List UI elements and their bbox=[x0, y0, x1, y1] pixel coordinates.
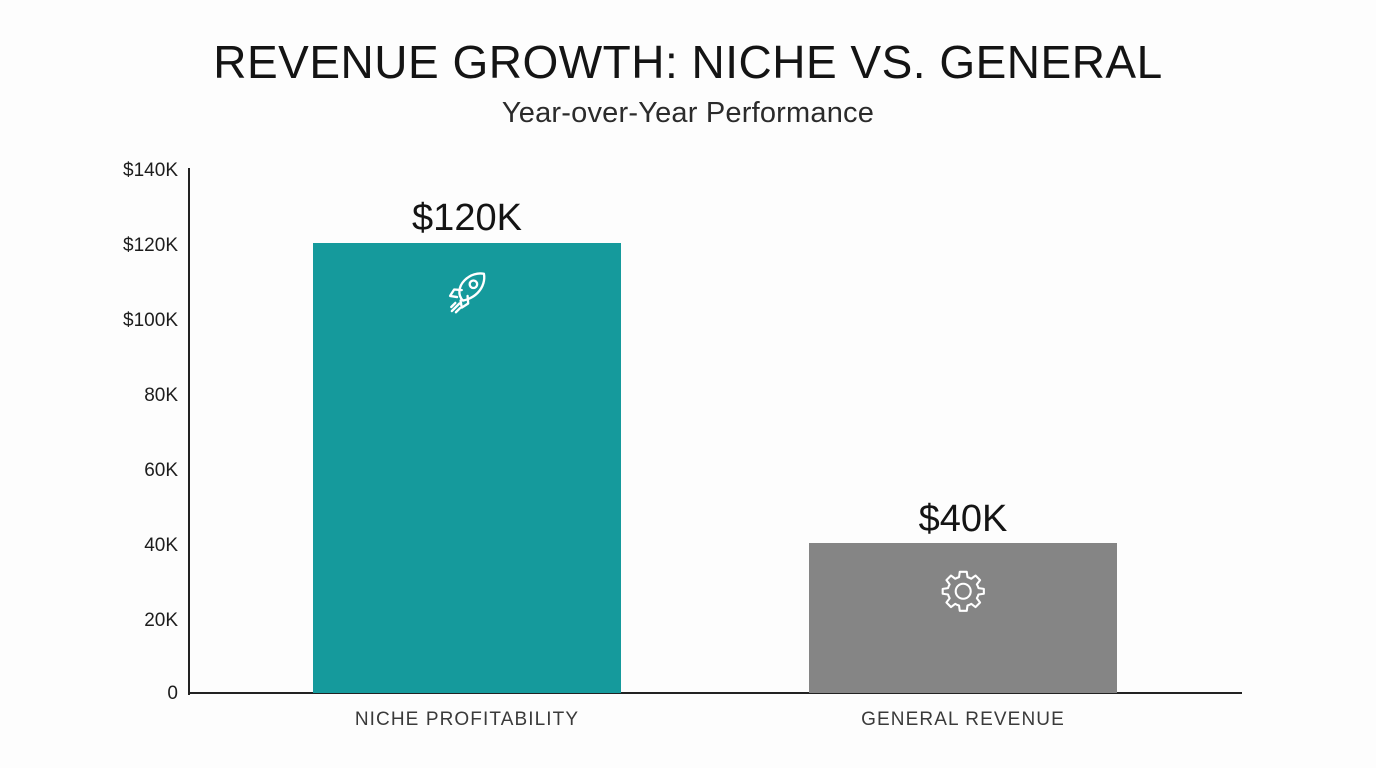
bar-general-revenue[interactable] bbox=[809, 543, 1117, 693]
revenue-bar-chart: REVENUE GROWTH: NICHE VS. GENERAL Year-o… bbox=[0, 0, 1376, 768]
y-axis-tick-label: $140K bbox=[58, 161, 178, 180]
y-axis-tick-label: 60K bbox=[58, 461, 178, 480]
y-axis-tick-label: 0 bbox=[58, 684, 178, 703]
y-axis-tick-label: 20K bbox=[58, 611, 178, 630]
y-axis-tick-label: 80K bbox=[58, 386, 178, 405]
y-axis-tick-label: $100K bbox=[58, 311, 178, 330]
y-axis-tick-label: $120K bbox=[58, 236, 178, 255]
y-axis-line bbox=[188, 168, 190, 695]
rocket-icon bbox=[439, 265, 495, 326]
bar-niche-profitability[interactable] bbox=[313, 243, 621, 693]
gear-icon bbox=[938, 565, 988, 620]
y-axis-tick-label: 40K bbox=[58, 536, 178, 555]
chart-title: REVENUE GROWTH: NICHE VS. GENERAL bbox=[0, 34, 1376, 90]
bar-value-label-general: $40K bbox=[809, 497, 1117, 541]
bar-value-label-niche: $120K bbox=[313, 196, 621, 240]
chart-subtitle: Year-over-Year Performance bbox=[0, 94, 1376, 132]
x-axis-category-label-general: GENERAL REVENUE bbox=[809, 708, 1117, 732]
x-axis-category-label-niche: NICHE PROFITABILITY bbox=[313, 708, 621, 732]
